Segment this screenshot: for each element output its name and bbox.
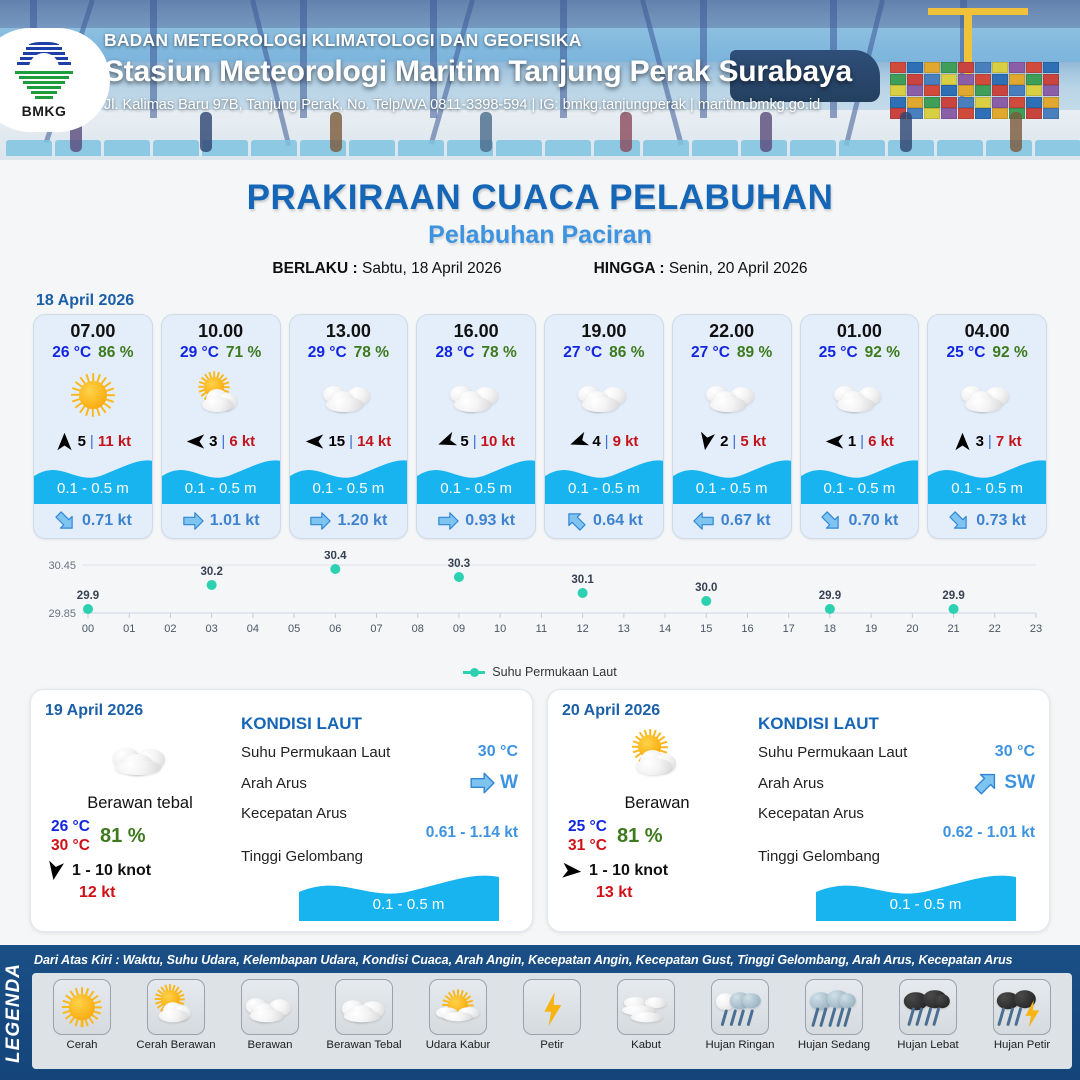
current-direction-label: Arah Arus — [241, 775, 307, 792]
card-weather-icon — [545, 364, 663, 426]
legend-side-title-text: LEGENDA — [3, 963, 25, 1063]
card-time: 22.00 — [673, 321, 791, 342]
legend-item: Hujan Sedang — [792, 979, 876, 1051]
legend-item: Cerah Berawan — [134, 979, 218, 1051]
forecast-card: 22.0027 °C89 %2|5 kt0.1 - 0.5 m0.67 kt — [672, 314, 792, 539]
legend-item-row: CerahCerah BerawanBerawanBerawan TebalUd… — [32, 973, 1072, 1069]
card-weather-icon — [290, 364, 408, 426]
current-direction-arrow — [820, 510, 842, 532]
svg-text:30.45: 30.45 — [48, 560, 76, 572]
svg-text:03: 03 — [206, 623, 218, 635]
card-temperature: 29 °C — [180, 344, 219, 362]
bmkg-logo: BMKG — [0, 28, 110, 132]
legend-icon-berawan — [241, 979, 299, 1035]
card-current: 0.67 kt — [673, 504, 791, 538]
current-speed-value: 0.62 - 1.01 kt — [758, 824, 1035, 842]
card-wind: 3|6 kt — [162, 428, 280, 454]
daily-weather-icon — [562, 724, 752, 788]
card-wind-separator: | — [988, 433, 992, 450]
card-humidity: 78 % — [354, 344, 389, 362]
card-wind-separator: | — [349, 433, 353, 450]
card-wave-band: 0.1 - 0.5 m — [290, 456, 408, 504]
svg-text:30.0: 30.0 — [695, 582, 717, 594]
forecast-date-label: 18 April 2026 — [36, 292, 1080, 310]
card-humidity: 92 % — [865, 344, 900, 362]
svg-text:07: 07 — [370, 623, 382, 635]
card-current: 1.20 kt — [290, 504, 408, 538]
card-wave-height: 0.1 - 0.5 m — [162, 480, 280, 497]
card-wind: 3|7 kt — [928, 428, 1046, 454]
wind-direction-arrow — [437, 432, 456, 451]
valid-until-value: Senin, 20 April 2026 — [669, 260, 808, 277]
legend-bar: LEGENDA Dari Atas Kiri : Waktu, Suhu Uda… — [0, 945, 1080, 1080]
card-wind: 5|10 kt — [417, 428, 535, 454]
svg-text:12: 12 — [576, 623, 588, 635]
card-wind-speed: 5 — [460, 433, 468, 450]
legend-icon-cerah — [53, 979, 111, 1035]
card-humidity: 78 % — [481, 344, 516, 362]
valid-from-value: Sabtu, 18 April 2026 — [362, 260, 502, 277]
station-name: Stasiun Meteorologi Maritim Tanjung Pera… — [104, 55, 1064, 89]
card-wind: 5|11 kt — [34, 428, 152, 454]
svg-text:29.9: 29.9 — [942, 590, 964, 602]
svg-text:20: 20 — [906, 623, 918, 635]
card-gust: 9 kt — [613, 433, 639, 450]
daily-humidity: 81 % — [617, 825, 663, 848]
card-humidity: 86 % — [609, 344, 644, 362]
current-direction-label: Arah Arus — [758, 775, 824, 792]
sst-legend-marker — [463, 671, 485, 674]
card-current-speed: 1.01 kt — [210, 512, 260, 530]
card-wave-height: 0.1 - 0.5 m — [801, 480, 919, 497]
legend-item-label: Udara Kabur — [416, 1039, 500, 1051]
svg-text:06: 06 — [329, 623, 341, 635]
daily-gust: 12 kt — [45, 884, 235, 902]
legend-item: Petir — [510, 979, 594, 1051]
wind-direction-arrow — [55, 432, 74, 451]
legend-item-label: Kabut — [604, 1039, 688, 1051]
card-temperature: 29 °C — [308, 344, 347, 362]
legend-icon-berawan-tebal — [335, 979, 393, 1035]
sst-chart-svg: 30.4529.85000102030405060708091011121314… — [30, 551, 1050, 651]
legend-item-label: Berawan Tebal — [322, 1039, 406, 1051]
card-current-speed: 1.20 kt — [337, 512, 387, 530]
sst-chart: 30.4529.85000102030405060708091011121314… — [0, 551, 1080, 669]
current-direction-arrow — [437, 510, 459, 532]
svg-text:30.4: 30.4 — [324, 551, 347, 562]
card-wind-separator: | — [473, 433, 477, 450]
card-wave-band: 0.1 - 0.5 m — [545, 456, 663, 504]
valid-until-label: HINGGA : — [594, 260, 665, 277]
legend-icon-petir — [523, 979, 581, 1035]
card-weather-icon — [801, 364, 919, 426]
forecast-card: 19.0027 °C86 %4|9 kt0.1 - 0.5 m0.64 kt — [544, 314, 664, 539]
card-wind-speed: 3 — [976, 433, 984, 450]
card-wind: 1|6 kt — [801, 428, 919, 454]
sst-value: 30 °C — [995, 743, 1035, 761]
bmkg-logo-text: BMKG — [22, 103, 67, 119]
daily-wave-value: 0.1 - 0.5 m — [299, 896, 518, 913]
daily-wind-range: 1 - 10 knot — [589, 862, 668, 880]
svg-text:10: 10 — [494, 623, 506, 635]
card-temperature: 28 °C — [435, 344, 474, 362]
wind-direction-arrow — [569, 432, 588, 451]
card-wave-band: 0.1 - 0.5 m — [162, 456, 280, 504]
legend-item: Hujan Ringan — [698, 979, 782, 1051]
svg-text:04: 04 — [247, 623, 259, 635]
svg-text:02: 02 — [164, 623, 176, 635]
daily-temp-max: 31 °C — [568, 836, 607, 855]
card-current: 1.01 kt — [162, 504, 280, 538]
daily-temp-max: 30 °C — [51, 836, 90, 855]
card-weather-icon — [673, 364, 791, 426]
contact-line: Jl. Kalimas Baru 97B, Tanjung Perak, No.… — [104, 97, 1064, 113]
title-block: PRAKIRAAN CUACA PELABUHAN Pelabuhan Paci… — [0, 178, 1080, 278]
card-time: 16.00 — [417, 321, 535, 342]
current-direction-arrow — [948, 510, 970, 532]
daily-wave-band: 0.1 - 0.5 m — [816, 871, 1035, 921]
forecast-card: 13.0029 °C78 %15|14 kt0.1 - 0.5 m1.20 kt — [289, 314, 409, 539]
card-weather-icon — [417, 364, 535, 426]
current-direction-arrow — [54, 510, 76, 532]
svg-text:01: 01 — [123, 623, 135, 635]
forecast-card: 16.0028 °C78 %5|10 kt0.1 - 0.5 m0.93 kt — [416, 314, 536, 539]
wind-direction-arrow — [186, 432, 205, 451]
card-time: 01.00 — [801, 321, 919, 342]
legend-item: Berawan — [228, 979, 312, 1051]
card-time: 19.00 — [545, 321, 663, 342]
card-wave-band: 0.1 - 0.5 m — [801, 456, 919, 504]
card-time: 04.00 — [928, 321, 1046, 342]
wind-direction-arrow — [45, 861, 65, 881]
card-wind-speed: 2 — [720, 433, 728, 450]
card-current-speed: 0.73 kt — [976, 512, 1026, 530]
legend-item-label: Hujan Petir — [980, 1039, 1064, 1051]
legend-icon-hujan-sedang — [805, 979, 863, 1035]
card-wave-band: 0.1 - 0.5 m — [673, 456, 791, 504]
svg-text:05: 05 — [288, 623, 300, 635]
svg-text:13: 13 — [618, 623, 630, 635]
card-current: 0.93 kt — [417, 504, 535, 538]
wind-direction-arrow — [305, 432, 324, 451]
daily-wind: 1 - 10 knot — [562, 861, 752, 881]
card-current: 0.73 kt — [928, 504, 1046, 538]
legend-item: Hujan Lebat — [886, 979, 970, 1051]
card-current-speed: 0.67 kt — [721, 512, 771, 530]
svg-text:22: 22 — [989, 623, 1001, 635]
card-gust: 7 kt — [996, 433, 1022, 450]
card-wind: 15|14 kt — [290, 428, 408, 454]
validity-row: BERLAKU : Sabtu, 18 April 2026 HINGGA : … — [0, 260, 1080, 278]
card-wave-band: 0.1 - 0.5 m — [34, 456, 152, 504]
wind-direction-arrow — [697, 432, 716, 451]
svg-text:17: 17 — [783, 623, 795, 635]
card-wind-speed: 15 — [328, 433, 345, 450]
svg-text:16: 16 — [741, 623, 753, 635]
forecast-card-row: 07.0026 °C86 %5|11 kt0.1 - 0.5 m0.71 kt1… — [0, 314, 1080, 539]
header-text-block: BADAN METEOROLOGI KLIMATOLOGI DAN GEOFIS… — [104, 30, 1064, 113]
card-gust: 11 kt — [98, 433, 131, 450]
svg-text:11: 11 — [536, 623, 547, 635]
current-direction-arrow — [565, 510, 587, 532]
daily-gust: 13 kt — [562, 884, 752, 902]
card-wind-separator: | — [90, 433, 94, 450]
legend-side-title: LEGENDA — [0, 945, 28, 1080]
daily-panel: 20 April 2026Berawan25 °C31 °C81 %1 - 10… — [547, 689, 1050, 932]
legend-item-label: Cerah — [40, 1039, 124, 1051]
card-wind-separator: | — [732, 433, 736, 450]
card-temperature: 27 °C — [563, 344, 602, 362]
card-wind-speed: 5 — [78, 433, 86, 450]
wind-direction-arrow — [953, 432, 972, 451]
legend-item-label: Hujan Sedang — [792, 1039, 876, 1051]
legend-item: Hujan Petir — [980, 979, 1064, 1051]
svg-text:30.2: 30.2 — [200, 566, 222, 578]
current-direction-arrow — [693, 510, 715, 532]
card-wind-speed: 4 — [592, 433, 600, 450]
daily-condition: Berawan tebal — [45, 794, 235, 813]
legend-item: Cerah — [40, 979, 124, 1051]
card-wave-height: 0.1 - 0.5 m — [928, 480, 1046, 497]
legend-icon-cerah-berawan — [147, 979, 205, 1035]
legend-body: Dari Atas Kiri : Waktu, Suhu Udara, Kele… — [28, 945, 1080, 1080]
svg-text:21: 21 — [947, 623, 959, 635]
card-wave-height: 0.1 - 0.5 m — [545, 480, 663, 497]
valid-from: BERLAKU : Sabtu, 18 April 2026 — [272, 260, 501, 278]
svg-text:29.9: 29.9 — [77, 590, 99, 602]
card-gust: 10 kt — [481, 433, 515, 450]
card-current: 0.70 kt — [801, 504, 919, 538]
legend-icon-udara-kabur — [429, 979, 487, 1035]
daily-date: 19 April 2026 — [45, 702, 235, 720]
card-humidity: 89 % — [737, 344, 772, 362]
sst-label: Suhu Permukaan Laut — [241, 744, 390, 761]
forecast-card: 04.0025 °C92 %3|7 kt0.1 - 0.5 m0.73 kt — [927, 314, 1047, 539]
card-time: 10.00 — [162, 321, 280, 342]
card-temperature: 25 °C — [819, 344, 858, 362]
svg-text:14: 14 — [659, 623, 671, 635]
legend-icon-hujan-petir — [993, 979, 1051, 1035]
card-wind-speed: 3 — [209, 433, 217, 450]
header-chairs-illustration — [0, 130, 1080, 156]
daily-condition: Berawan — [562, 794, 752, 813]
bmkg-logo-mark — [13, 42, 75, 100]
card-weather-icon — [928, 364, 1046, 426]
card-wind: 2|5 kt — [673, 428, 791, 454]
sea-conditions-title: KONDISI LAUT — [758, 714, 1035, 734]
forecast-card: 01.0025 °C92 %1|6 kt0.1 - 0.5 m0.70 kt — [800, 314, 920, 539]
svg-text:19: 19 — [865, 623, 877, 635]
legend-icon-kabut — [617, 979, 675, 1035]
svg-text:15: 15 — [700, 623, 712, 635]
sst-value: 30 °C — [478, 743, 518, 761]
current-direction-arrow — [309, 510, 331, 532]
card-gust: 6 kt — [868, 433, 894, 450]
card-wave-height: 0.1 - 0.5 m — [34, 480, 152, 497]
valid-until: HINGGA : Senin, 20 April 2026 — [594, 260, 808, 278]
card-wave-height: 0.1 - 0.5 m — [673, 480, 791, 497]
legend-item-label: Hujan Lebat — [886, 1039, 970, 1051]
legend-item-label: Berawan — [228, 1039, 312, 1051]
card-current-speed: 0.64 kt — [593, 512, 643, 530]
daily-temp-min: 26 °C — [51, 817, 90, 836]
svg-text:08: 08 — [412, 623, 424, 635]
daily-wave-value: 0.1 - 0.5 m — [816, 896, 1035, 913]
card-wind-speed: 1 — [848, 433, 856, 450]
card-humidity: 71 % — [226, 344, 261, 362]
wave-height-label: Tinggi Gelombang — [758, 848, 1035, 865]
card-current-speed: 0.70 kt — [848, 512, 898, 530]
legend-item-label: Petir — [510, 1039, 594, 1051]
card-current-speed: 0.93 kt — [465, 512, 515, 530]
card-wave-height: 0.1 - 0.5 m — [417, 480, 535, 497]
daily-left: 20 April 2026Berawan25 °C31 °C81 %1 - 10… — [562, 702, 752, 919]
card-humidity: 92 % — [992, 344, 1027, 362]
legend-item: Berawan Tebal — [322, 979, 406, 1051]
daily-sea-conditions: KONDISI LAUTSuhu Permukaan Laut30 °CArah… — [235, 702, 518, 919]
svg-text:00: 00 — [82, 623, 94, 635]
svg-text:23: 23 — [1030, 623, 1042, 635]
current-direction-arrow — [469, 770, 495, 796]
card-weather-icon — [162, 364, 280, 426]
wind-direction-arrow — [562, 861, 582, 881]
current-direction-arrow — [973, 770, 999, 796]
card-temperature: 25 °C — [946, 344, 985, 362]
daily-weather-icon — [45, 724, 235, 788]
card-current-speed: 0.71 kt — [82, 512, 132, 530]
card-humidity: 86 % — [98, 344, 133, 362]
card-weather-icon — [34, 364, 152, 426]
daily-panel: 19 April 2026Berawan tebal26 °C30 °C81 %… — [30, 689, 533, 932]
page-title: PRAKIRAAN CUACA PELABUHAN — [0, 178, 1080, 218]
legend-item-label: Cerah Berawan — [134, 1039, 218, 1051]
svg-text:30.3: 30.3 — [448, 558, 470, 570]
legend-icon-hujan-lebat — [899, 979, 957, 1035]
card-time: 07.00 — [34, 321, 152, 342]
current-direction-arrow — [182, 510, 204, 532]
daily-temp-min: 25 °C — [568, 817, 607, 836]
card-wind-separator: | — [860, 433, 864, 450]
legend-item: Udara Kabur — [416, 979, 500, 1051]
svg-text:29.9: 29.9 — [819, 590, 841, 602]
current-direction-value: SW — [973, 770, 1035, 796]
current-direction-value: W — [469, 770, 518, 796]
daily-temperatures: 26 °C30 °C81 % — [45, 817, 235, 856]
svg-text:09: 09 — [453, 623, 465, 635]
card-current: 0.64 kt — [545, 504, 663, 538]
card-wind: 4|9 kt — [545, 428, 663, 454]
wind-direction-arrow — [825, 432, 844, 451]
current-speed-label: Kecepatan Arus — [241, 805, 518, 822]
card-wave-height: 0.1 - 0.5 m — [290, 480, 408, 497]
card-wind-separator: | — [605, 433, 609, 450]
card-temperature: 26 °C — [52, 344, 91, 362]
daily-temperatures: 25 °C31 °C81 % — [562, 817, 752, 856]
card-current: 0.71 kt — [34, 504, 152, 538]
legend-item: Kabut — [604, 979, 688, 1051]
valid-from-label: BERLAKU : — [272, 260, 357, 277]
daily-panel-row: 19 April 2026Berawan tebal26 °C30 °C81 %… — [0, 689, 1080, 932]
daily-wind: 1 - 10 knot — [45, 861, 235, 881]
card-wind-separator: | — [221, 433, 225, 450]
page-subtitle: Pelabuhan Paciran — [0, 221, 1080, 250]
daily-sea-conditions: KONDISI LAUTSuhu Permukaan Laut30 °CArah… — [752, 702, 1035, 919]
card-wave-band: 0.1 - 0.5 m — [928, 456, 1046, 504]
svg-text:29.85: 29.85 — [48, 608, 76, 620]
legend-icon-hujan-ringan — [711, 979, 769, 1035]
card-wave-band: 0.1 - 0.5 m — [417, 456, 535, 504]
forecast-card: 07.0026 °C86 %5|11 kt0.1 - 0.5 m0.71 kt — [33, 314, 153, 539]
legend-note: Dari Atas Kiri : Waktu, Suhu Udara, Kele… — [28, 945, 1072, 973]
daily-date: 20 April 2026 — [562, 702, 752, 720]
daily-left: 19 April 2026Berawan tebal26 °C30 °C81 %… — [45, 702, 235, 919]
card-gust: 14 kt — [357, 433, 391, 450]
current-speed-label: Kecepatan Arus — [758, 805, 1035, 822]
svg-text:18: 18 — [824, 623, 836, 635]
card-gust: 5 kt — [740, 433, 766, 450]
card-gust: 6 kt — [229, 433, 255, 450]
page-header: BMKG BADAN METEOROLOGI KLIMATOLOGI DAN G… — [0, 0, 1080, 160]
wave-height-label: Tinggi Gelombang — [241, 848, 518, 865]
daily-humidity: 81 % — [100, 825, 146, 848]
current-speed-value: 0.61 - 1.14 kt — [241, 824, 518, 842]
sst-label: Suhu Permukaan Laut — [758, 744, 907, 761]
card-temperature: 27 °C — [691, 344, 730, 362]
sea-conditions-title: KONDISI LAUT — [241, 714, 518, 734]
svg-text:30.1: 30.1 — [571, 574, 594, 586]
daily-wind-range: 1 - 10 knot — [72, 862, 151, 880]
forecast-card: 10.0029 °C71 %3|6 kt0.1 - 0.5 m1.01 kt — [161, 314, 281, 539]
agency-name: BADAN METEOROLOGI KLIMATOLOGI DAN GEOFIS… — [104, 30, 1064, 51]
card-time: 13.00 — [290, 321, 408, 342]
daily-wave-band: 0.1 - 0.5 m — [299, 871, 518, 921]
legend-item-label: Hujan Ringan — [698, 1039, 782, 1051]
